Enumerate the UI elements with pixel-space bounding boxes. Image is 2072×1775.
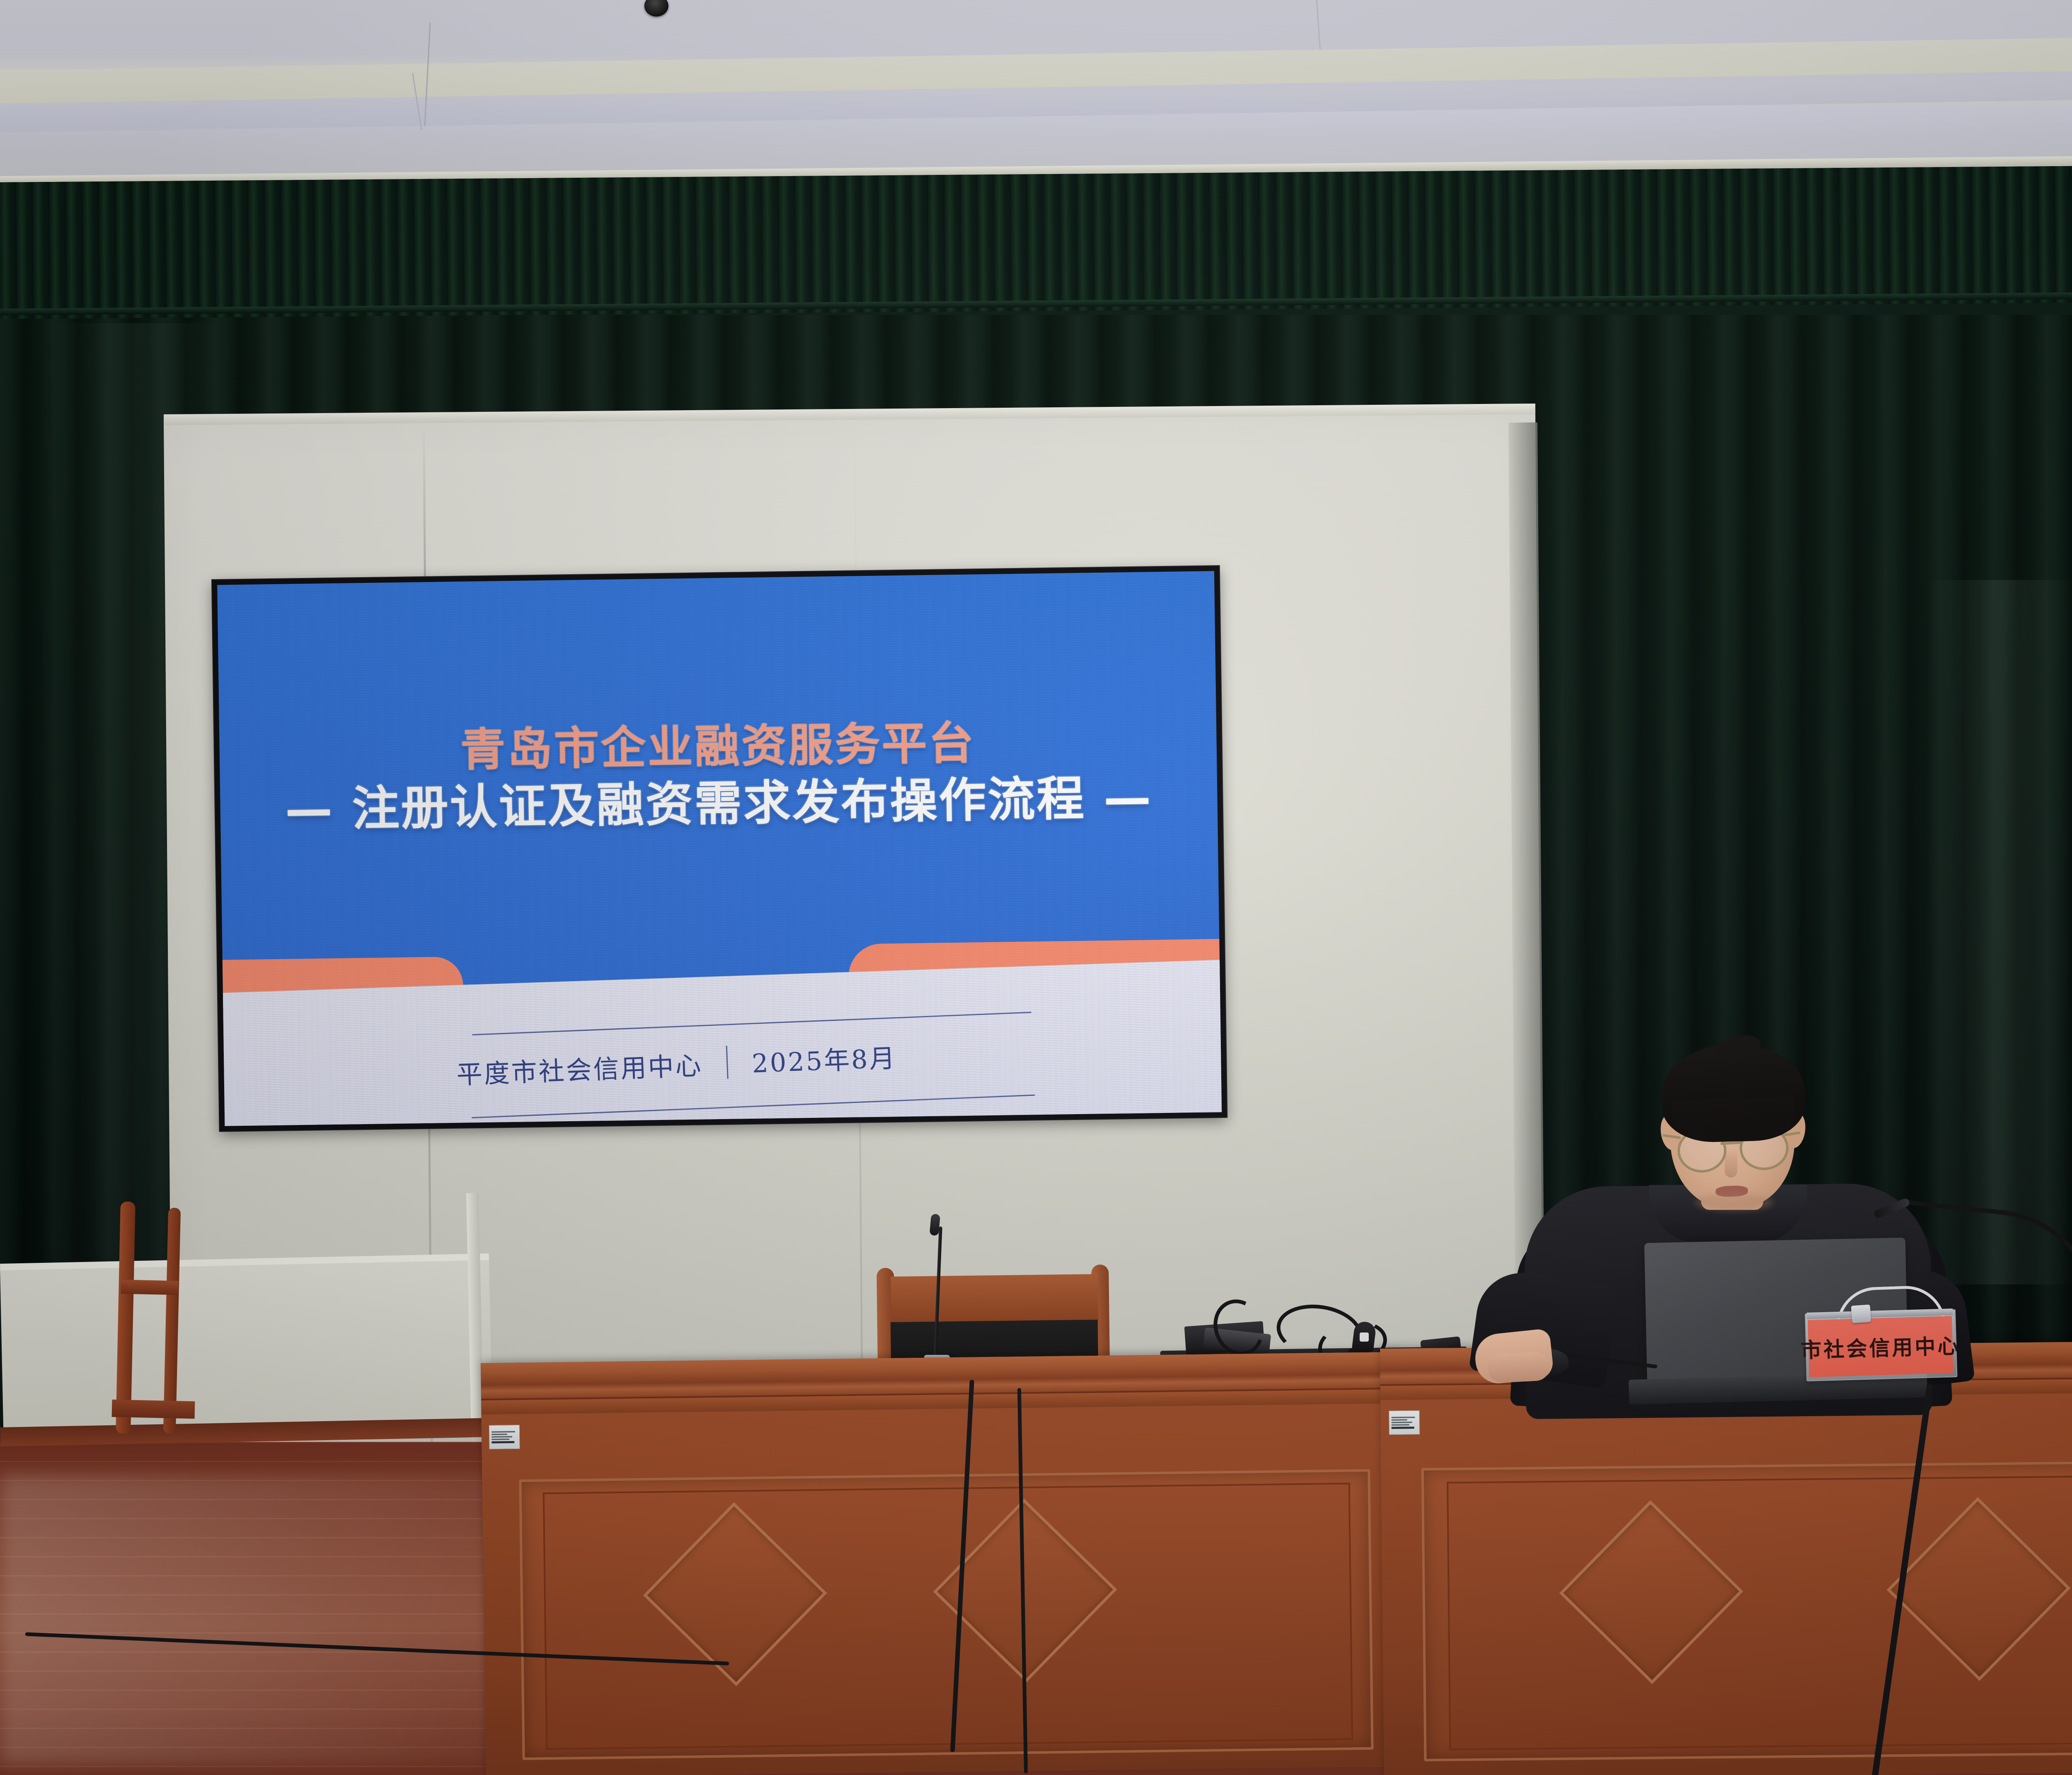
led-screen[interactable]: 青岛市企业融资服务平台 — 注册认证及融资需求发布操作流程 — 平度市社会信用中… (212, 566, 1227, 1131)
side-chair-seat[interactable] (112, 1400, 195, 1419)
earpiece-label (1360, 1332, 1369, 1342)
side-chair-slat (121, 1280, 179, 1295)
slide-footer-divider (726, 1046, 729, 1079)
slide-surface: 青岛市企业融资服务平台 — 注册认证及融资需求发布操作流程 — 平度市社会信用中… (217, 571, 1222, 1126)
asset-tag (489, 1425, 520, 1449)
nameplate: 市社会信用中心 (1808, 1316, 1953, 1377)
desk-diamond-inlay (1559, 1500, 1743, 1684)
slide-subtitle: — 注册认证及融资需求发布操作流程 — (220, 758, 1218, 841)
chair-back-top (891, 1274, 1098, 1323)
desk-diamond-inlay (1887, 1497, 2071, 1681)
desk-panel-inner (1447, 1473, 2072, 1751)
curtain-sheen (1927, 580, 2072, 1284)
photo-scene: 青岛市企业融资服务平台 — 注册认证及融资需求发布操作流程 — 平度市社会信用中… (0, 0, 2072, 1775)
lower-wall (0, 1257, 492, 1434)
desk-front-body (1380, 1390, 2072, 1775)
slide-footer-date: 2025年8月 (751, 1037, 897, 1080)
nameplate-clip (1851, 1304, 1871, 1323)
presenter-hand (1487, 1351, 1550, 1383)
presenter-nose (1725, 1148, 1737, 1178)
desk-front-body (482, 1403, 1406, 1775)
asset-tag (1389, 1410, 1420, 1435)
desk-panel (519, 1469, 1374, 1760)
desk-panel-inner (543, 1483, 1353, 1750)
desk-panel (1421, 1459, 2072, 1761)
nameplate-text: 市社会信用中心 (1800, 1330, 1961, 1364)
desk-diamond-inlay (643, 1502, 827, 1686)
conference-desk-left (481, 1352, 1406, 1775)
presenter-chin-shadow (1695, 1193, 1774, 1212)
